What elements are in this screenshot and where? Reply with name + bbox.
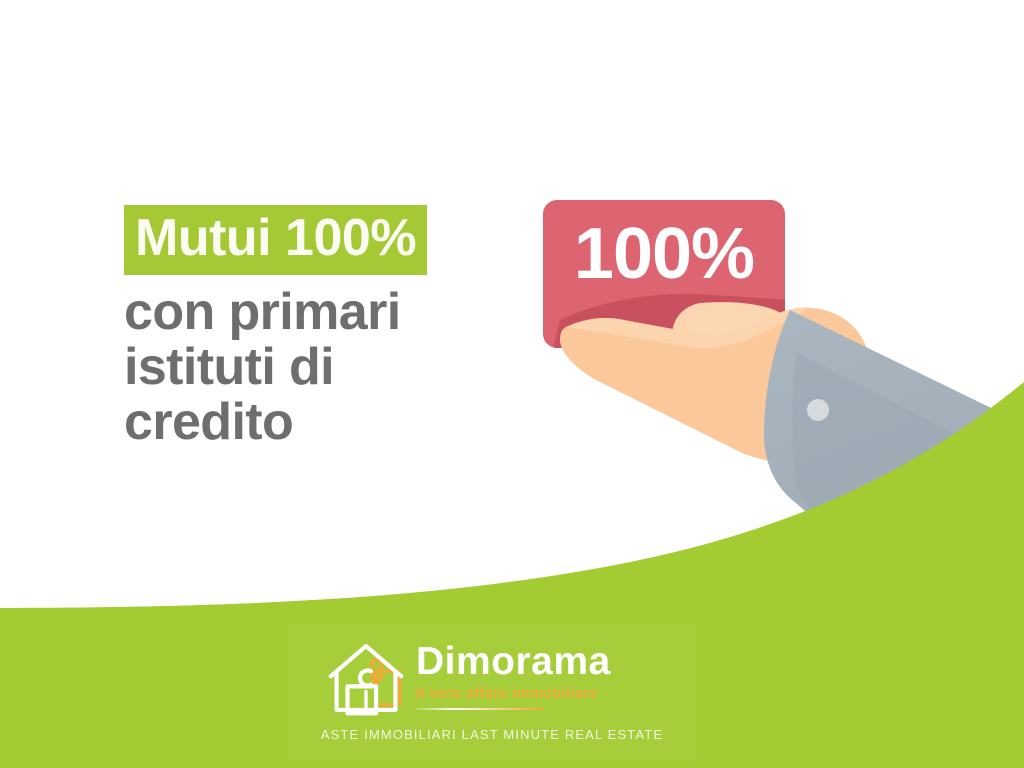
logo-panel: Dimorama Il vero affare immobiliare ASTE… (288, 624, 696, 760)
percentage-value: 100% (543, 218, 785, 290)
headline-line-3: credito (124, 395, 544, 450)
headline-subtext: con primari istituti di credito (124, 285, 544, 450)
logo-tagline: Il vero affare immobiliare (416, 687, 611, 702)
promo-banner: Mutui 100% con primari istituti di credi… (0, 0, 1024, 768)
headline-line-2: istituti di (124, 340, 544, 395)
headline-block: Mutui 100% con primari istituti di credi… (124, 205, 544, 450)
logo-row: Dimorama Il vero affare immobiliare (324, 636, 611, 720)
headline-line-1: con primari (124, 285, 544, 340)
logo-wordmark: Dimorama Il vero affare immobiliare (416, 642, 611, 711)
headline-highlight: Mutui 100% (124, 205, 427, 275)
house-outline-icon (324, 636, 408, 720)
logo-name: Dimorama (416, 642, 611, 681)
logo-divider (416, 708, 544, 710)
logo-subtitle: ASTE IMMOBILIARI LAST MINUTE REAL ESTATE (288, 728, 696, 741)
headline-highlight-wrap: Mutui 100% (124, 205, 544, 275)
percentage-card: 100% (543, 200, 785, 348)
